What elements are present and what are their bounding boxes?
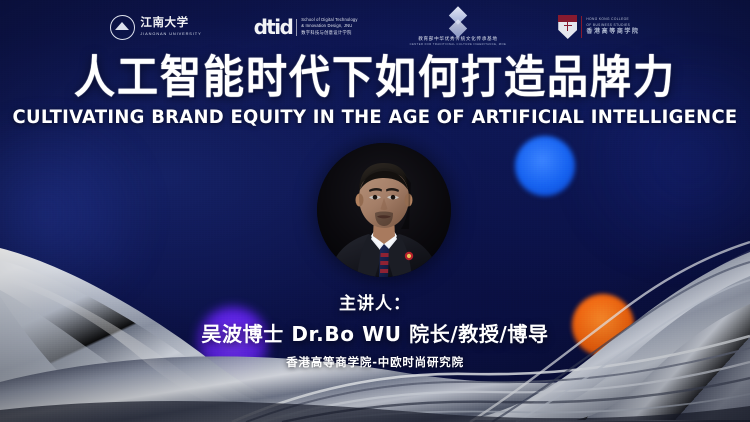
- dtid-wordmark: dtid: [254, 17, 293, 37]
- speaker-info: 主讲人： 吴波博士 Dr.Bo WU 院长/教授/博导 香港高等商学院-中欧时尚…: [0, 296, 750, 369]
- logo-jiangnan-name-cn: 江南大学: [140, 18, 201, 30]
- poster-title-english: CULTIVATING BRAND EQUITY IN THE AGE OF A…: [11, 109, 739, 128]
- partner-logo-bar: 江南大学 JIANGNAN UNIVERSITY dtid School of …: [0, 10, 750, 44]
- divider: [581, 16, 582, 38]
- shield-cross-vertical: [567, 21, 569, 31]
- diamond-emblem-icon: [447, 9, 468, 35]
- logo-jiangnan-text: 江南大学 JIANGNAN UNIVERSITY: [140, 18, 201, 36]
- logo-jiangnan-name-en: JIANGNAN UNIVERSITY: [140, 32, 201, 36]
- logo-dtid-text: School of Digital Technology & Innovatio…: [301, 18, 357, 35]
- logo-moe-emblem: 教育部中华优秀传统文化传承基地 CENTER FOR TRADITIONAL C…: [410, 9, 507, 46]
- shield-icon: [558, 15, 577, 39]
- logo-dtid-en-line1: School of Digital Technology: [301, 18, 357, 22]
- logo-hkcbs-cn: 香港高等商学院: [586, 29, 639, 35]
- presentation-poster: 江南大学 JIANGNAN UNIVERSITY dtid School of …: [0, 0, 750, 422]
- divider: [296, 19, 297, 36]
- logo-dtid: dtid School of Digital Technology & Inno…: [254, 17, 358, 37]
- speaker-organization: 香港高等商学院-中欧时尚研究院: [0, 357, 750, 369]
- speaker-name: 吴波博士 Dr.Bo WU 院长/教授/博导: [0, 324, 750, 344]
- logo-hkcbs-text: HONG KONG COLLEGE OF BUSINESS STUDIES 香港…: [586, 18, 639, 35]
- logo-dtid-cn: 数字科技与创意设计学院: [301, 31, 357, 36]
- circle-mountain-icon: [110, 15, 135, 40]
- poster-title-chinese: 人工智能时代下如何打造品牌力: [0, 55, 750, 100]
- logo-moe-name-en: CENTER FOR TRADITIONAL CULTURE INHERITAN…: [410, 43, 507, 46]
- diamond-bottom: [449, 19, 467, 37]
- blue-circle-decoration: [515, 136, 575, 196]
- speaker-portrait: [317, 143, 451, 277]
- logo-jiangnan-university: 江南大学 JIANGNAN UNIVERSITY: [110, 15, 201, 40]
- logo-hkcbs-en-line1: HONG KONG COLLEGE: [586, 18, 639, 21]
- shield-cross-horizontal: [564, 25, 572, 27]
- logo-dtid-en-line2: & Innovation Design, JNU: [301, 24, 357, 28]
- logo-hkcbs-en-line2: OF BUSINESS STUDIES: [586, 24, 639, 27]
- logo-hkcbs: HONG KONG COLLEGE OF BUSINESS STUDIES 香港…: [558, 15, 639, 39]
- speaker-label: 主讲人：: [0, 296, 750, 313]
